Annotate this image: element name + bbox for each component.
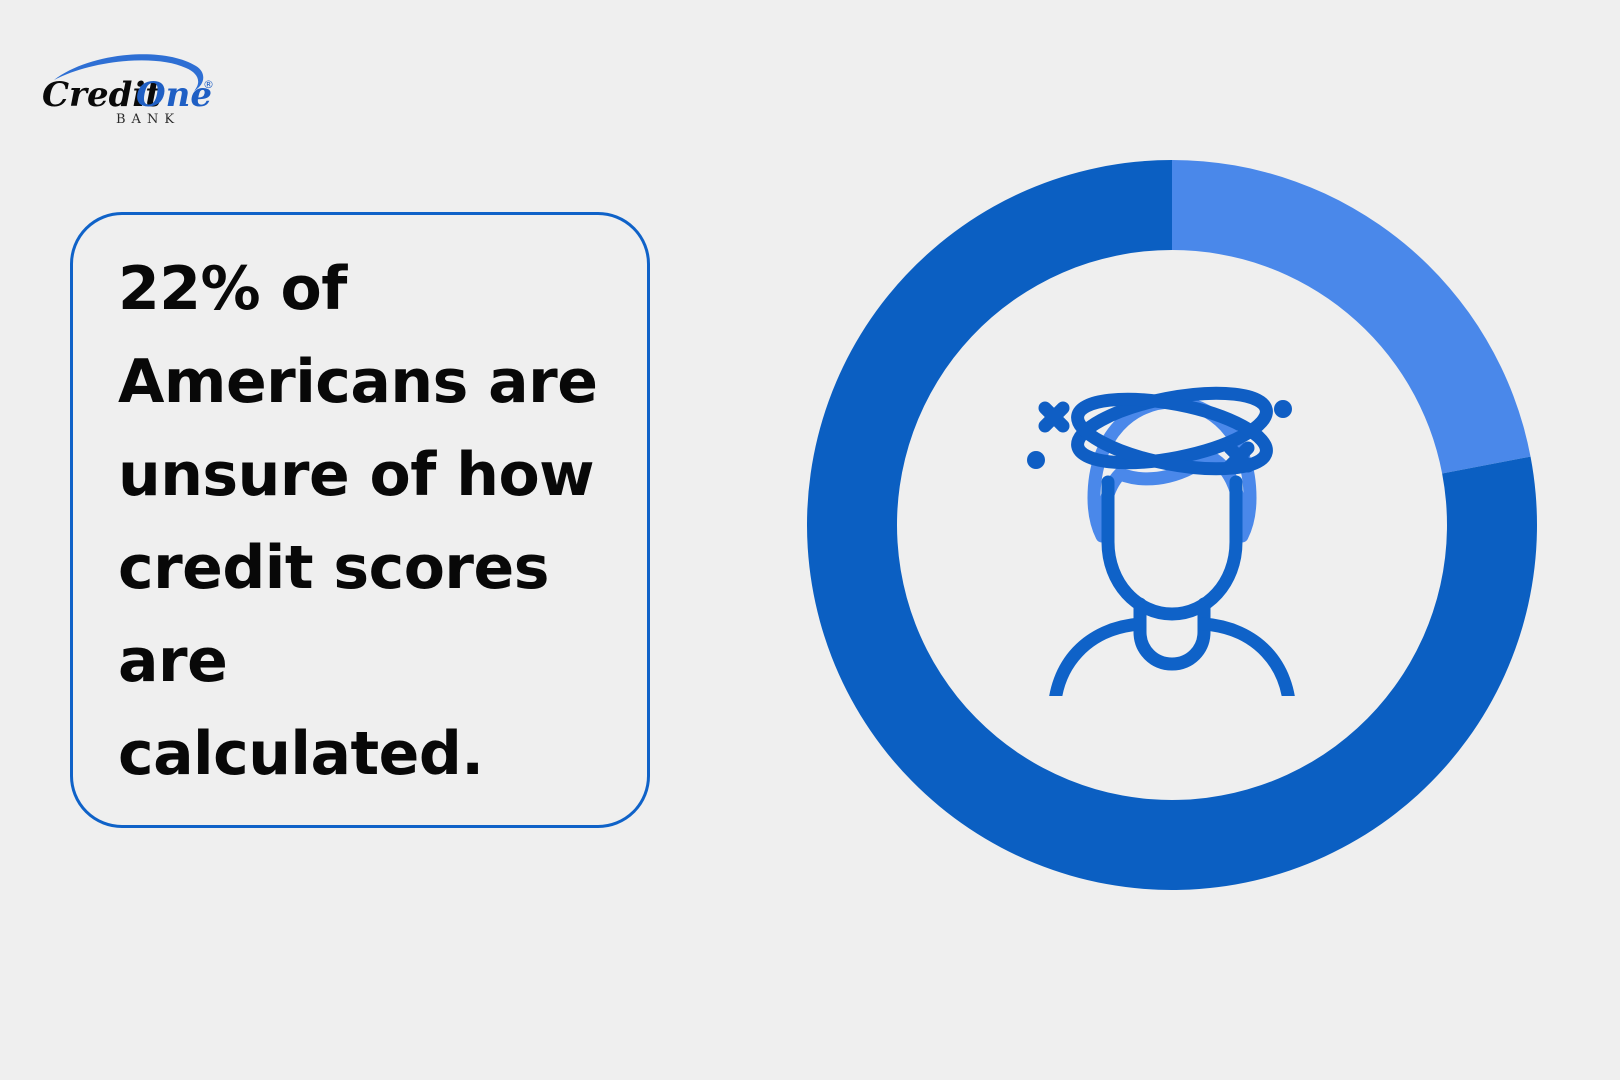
dot-left-icon: [1027, 451, 1045, 469]
stat-line-6: calculated.: [118, 708, 628, 801]
stat-line-1: 22% of: [118, 243, 628, 336]
logo-word-bank: BANK: [116, 112, 180, 126]
x-mark-right-icon: [1230, 448, 1248, 466]
infographic-canvas: Credit One ® BANK 22% of Americans are u…: [0, 0, 1620, 1080]
credit-one-bank-logo: Credit One ® BANK: [38, 44, 218, 126]
stat-line-5: are: [118, 615, 628, 708]
x-mark-left-icon: [1045, 408, 1063, 426]
logo-registered-icon: ®: [203, 78, 214, 91]
stat-line-3: unsure of how: [118, 429, 628, 522]
stat-callout-card: 22% of Americans are unsure of how credi…: [70, 212, 650, 828]
stat-text-block: 22% of Americans are unsure of how credi…: [118, 243, 628, 801]
logo-word-one: One: [136, 75, 212, 115]
stat-line-2: Americans are: [118, 336, 628, 429]
stat-line-4: credit scores: [118, 522, 628, 615]
dot-right-icon: [1274, 400, 1292, 418]
dizzy-person-icon: [1002, 356, 1342, 696]
